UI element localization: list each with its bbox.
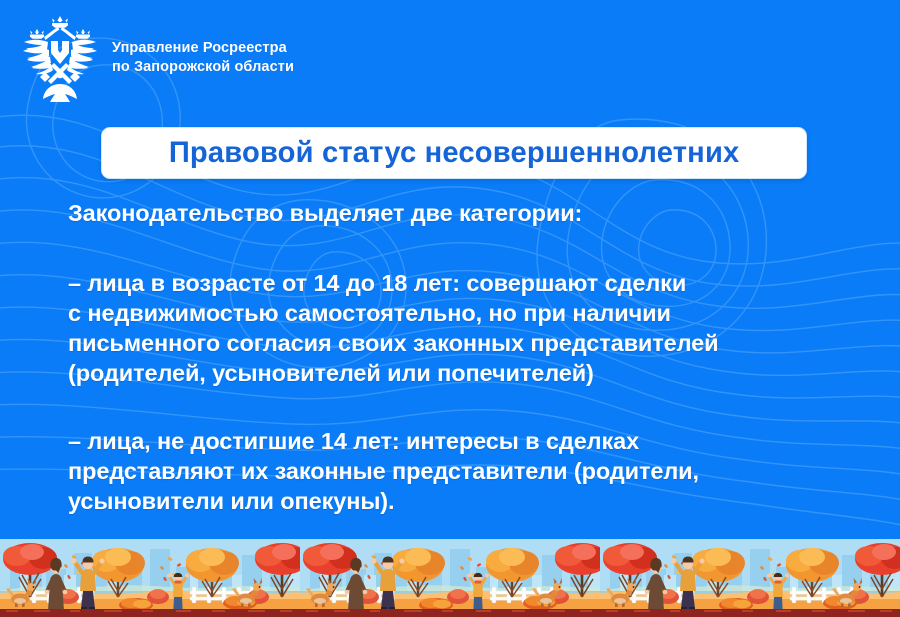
rosreestr-eagle-emblem-icon <box>18 14 102 102</box>
category-paragraph-under-14: – лица, не достигшие 14 лет: интересы в … <box>68 426 878 516</box>
title-banner: Правовой статус несовершеннолетних <box>101 127 807 179</box>
category-paragraph-14-to-18: – лица в возрасте от 14 до 18 лет: совер… <box>68 268 878 388</box>
lead-paragraph: Законодательство выделяет две категории: <box>68 198 878 228</box>
header: Управление Росреестра по Запорожской обл… <box>18 14 294 102</box>
slide-canvas: Управление Росреестра по Запорожской обл… <box>0 0 900 617</box>
page-title: Правовой статус несовершеннолетних <box>169 136 740 170</box>
organization-name: Управление Росреестра по Запорожской обл… <box>112 39 294 78</box>
autumn-park-illustration <box>0 539 900 617</box>
body-content: Законодательство выделяет две категории:… <box>68 198 878 516</box>
